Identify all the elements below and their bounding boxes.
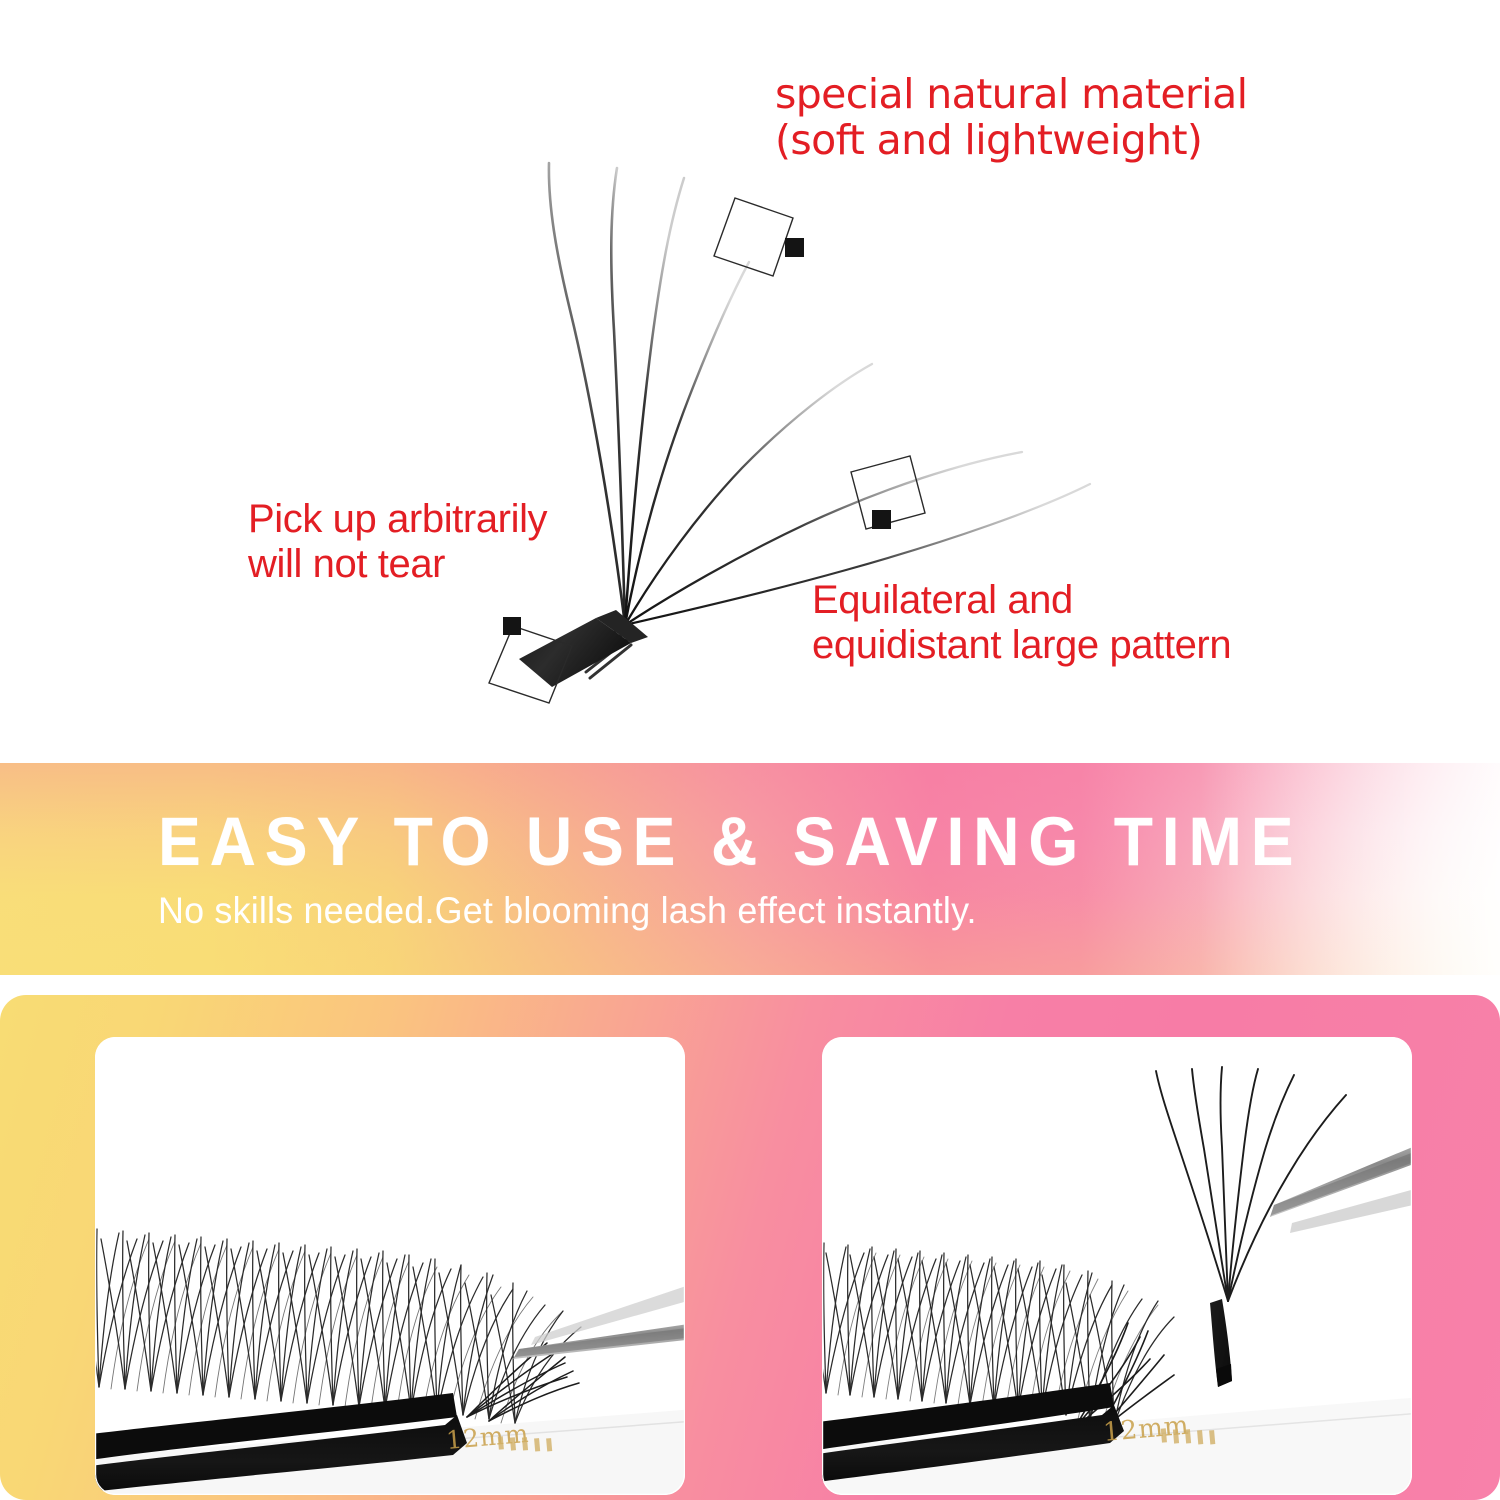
annotation-special-material: special natural material (soft and light… xyxy=(775,72,1247,164)
lash-tray-fan-lifted-photo: 12mm xyxy=(822,1037,1412,1495)
product-feature-page: special natural material (soft and light… xyxy=(0,0,1500,1500)
hero-section: special natural material (soft and light… xyxy=(0,0,1500,763)
headline-banner: EASY TO USE & SAVING TIME No skills need… xyxy=(0,763,1500,975)
annotation-pick-up: Pick up arbitrarily will not tear xyxy=(248,497,547,587)
gallery-card-left[interactable]: 12mm xyxy=(95,1037,685,1495)
banner-subtitle: No skills needed.Get blooming lash effec… xyxy=(158,890,977,932)
callout-handle-mid xyxy=(872,510,891,529)
lash-fan-diagram xyxy=(0,0,1500,763)
gallery-card-right[interactable]: 12mm xyxy=(822,1037,1412,1495)
banner-title: EASY TO USE & SAVING TIME xyxy=(158,807,1302,876)
callout-marker-top xyxy=(714,198,793,276)
callout-handle-top xyxy=(785,238,804,257)
callout-handle-base xyxy=(503,617,521,635)
lash-tray-with-tweezers-photo: 12mm xyxy=(95,1037,685,1495)
annotation-equilateral: Equilateral and equidistant large patter… xyxy=(812,578,1231,668)
